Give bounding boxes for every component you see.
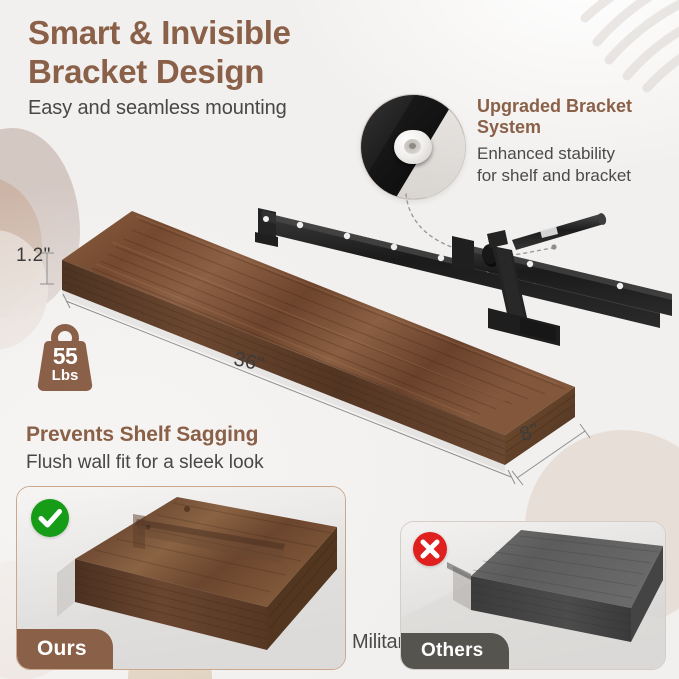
page-title: Smart & Invisible Bracket Design [28, 14, 428, 92]
white-screw-cap-icon [394, 130, 432, 164]
callout-body-line-1: Enhanced stability [477, 143, 679, 165]
pill-ours: Ours [17, 629, 113, 669]
section-subtitle-sagging: Flush wall fit for a sleek look [26, 452, 264, 474]
callout-body: Enhanced stability for shelf and bracket [477, 143, 679, 188]
pill-others: Others [401, 633, 509, 669]
check-icon [31, 499, 69, 537]
decor-blob-mauve [0, 128, 80, 318]
product-infographic: Smart & Invisible Bracket Design Easy an… [0, 0, 679, 679]
comparison-card-others: Others [400, 521, 666, 670]
callout-title: Upgraded Bracket System [477, 96, 679, 138]
dimension-depth: 8" [517, 419, 543, 447]
bracket-rail-front [452, 212, 672, 346]
section-title-sagging: Prevents Shelf Sagging [26, 423, 258, 447]
dimension-thickness: 1.2" [16, 245, 51, 267]
magnifier-detail-photo [360, 94, 466, 200]
bracket-rail-rear [255, 208, 660, 328]
dimension-length: 36" [232, 348, 267, 377]
callout-body-line-2: for shelf and bracket [477, 165, 679, 187]
title-line-1: Smart & Invisible [28, 14, 291, 51]
title-line-2: Bracket Design [28, 53, 428, 92]
comparison-card-ours: Ours [16, 486, 346, 670]
dimension-guides [40, 253, 590, 485]
cross-mark-badge [413, 532, 447, 566]
weight-capacity-badge: 55 Lbs [28, 322, 102, 394]
page-subtitle: Easy and seamless mounting [28, 97, 287, 120]
check-mark-badge [31, 499, 69, 537]
cross-icon [413, 532, 447, 566]
weight-unit: Lbs [28, 367, 102, 384]
weight-value: 55 [28, 343, 102, 370]
dashed-connector-line [400, 190, 590, 270]
